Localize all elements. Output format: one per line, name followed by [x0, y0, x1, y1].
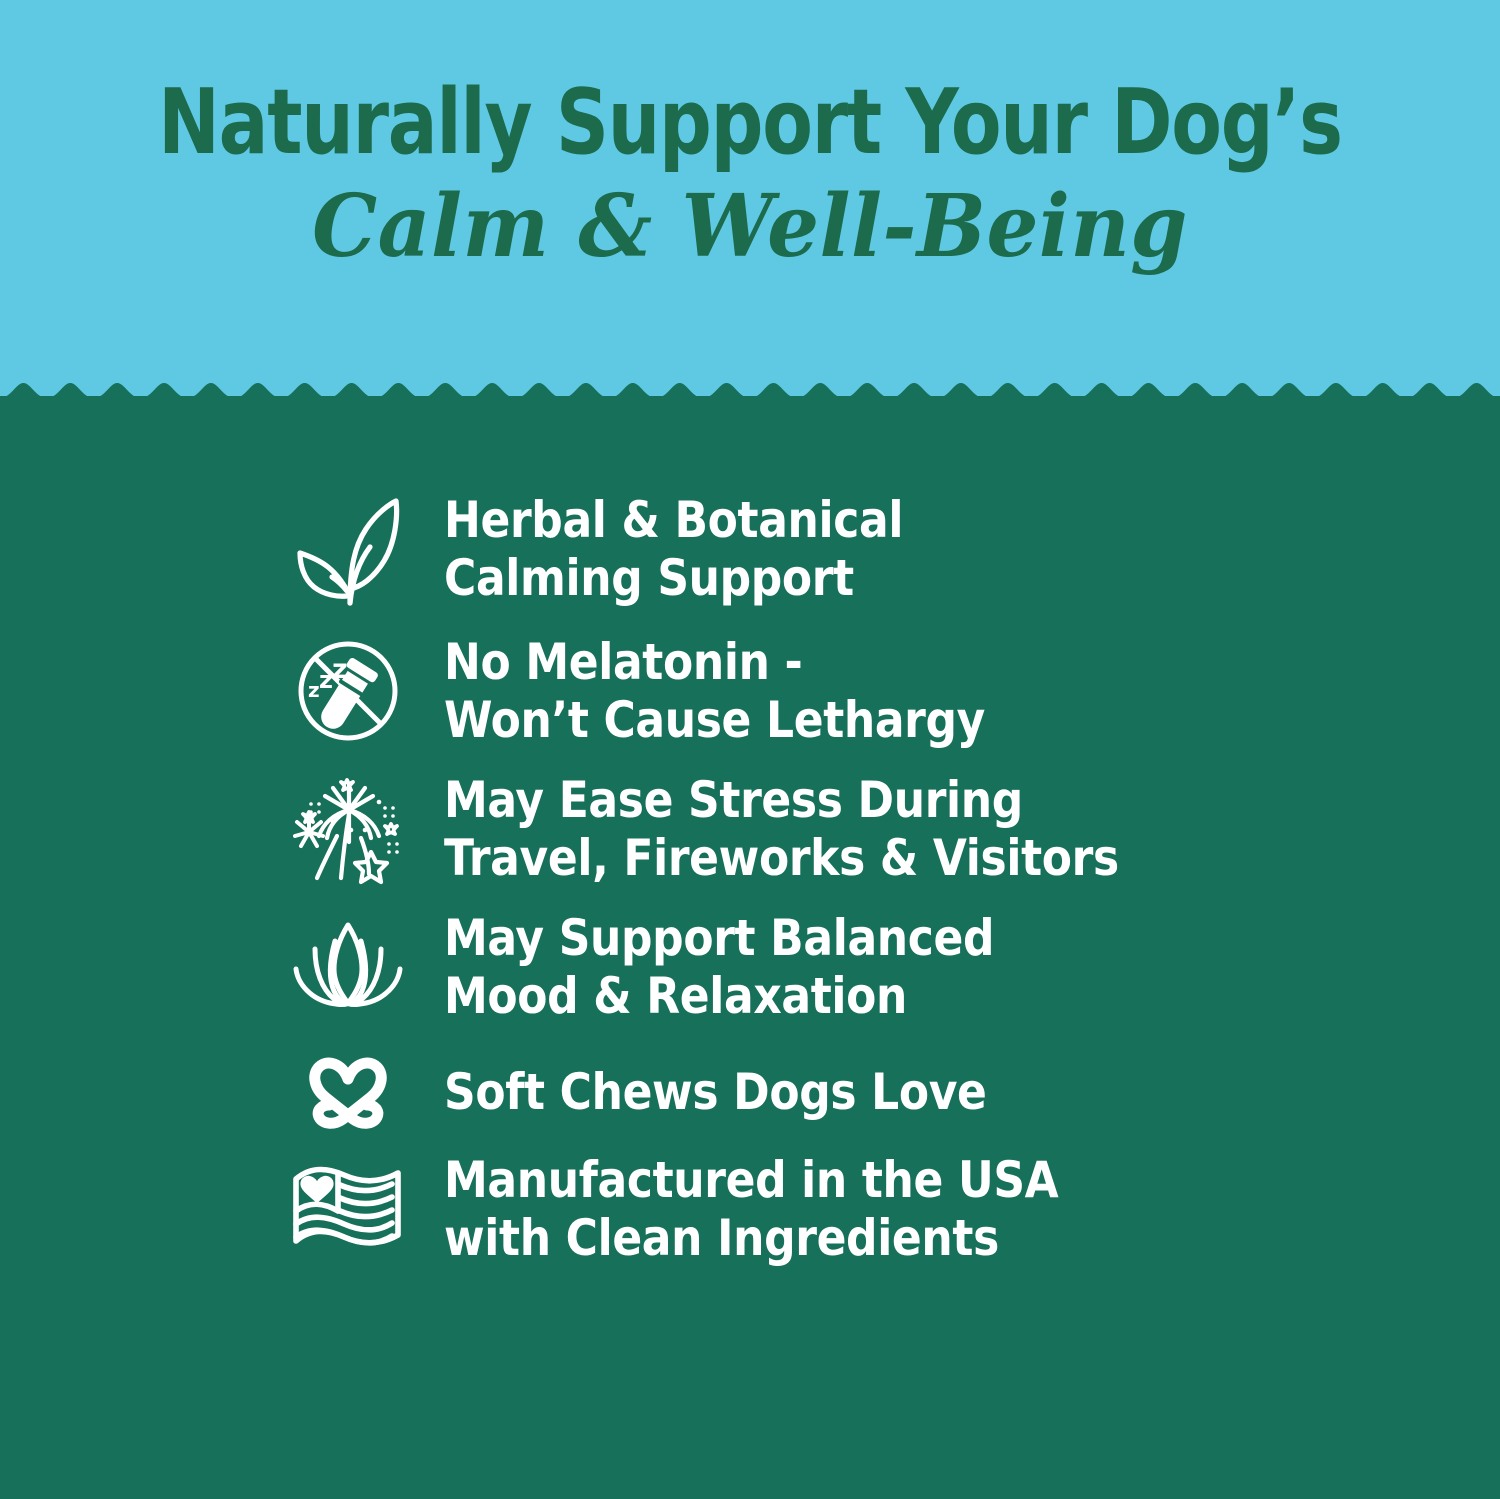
feature-label: Manufactured in the USA with Clean Ingre…	[444, 1151, 1373, 1268]
feature-list: Herbal & Botanical Calming Support	[0, 418, 1500, 1499]
feature-item: Herbal & Botanical Calming Support	[282, 488, 1500, 610]
svg-text:z: z	[319, 666, 333, 694]
feature-label: Soft Chews Dogs Love	[444, 1063, 1373, 1122]
no-melatonin-vial-icon: z z z	[282, 630, 414, 752]
feature-item: Soft Chews Dogs Love	[282, 1044, 1500, 1140]
feature-label: May Ease Stress During Travel, Fireworks…	[444, 771, 1373, 888]
fireworks-icon	[282, 768, 414, 890]
feature-item: z z z No Melatonin - Won’t Cause Letharg…	[282, 630, 1500, 752]
leaves-icon	[282, 488, 414, 610]
usa-flag-heart-icon	[282, 1148, 414, 1270]
headline-line-2: Calm & Well-Being	[38, 182, 1463, 272]
feature-label: Herbal & Botanical Calming Support	[444, 491, 1373, 608]
feature-item: May Ease Stress During Travel, Fireworks…	[282, 768, 1500, 890]
svg-text:z: z	[332, 654, 348, 685]
feature-label: May Support Balanced Mood & Relaxation	[444, 909, 1373, 1026]
feature-label: No Melatonin - Won’t Cause Lethargy	[444, 633, 1373, 750]
feature-item: Manufactured in the USA with Clean Ingre…	[282, 1148, 1500, 1270]
page-title: Naturally Support Your Dog’s Calm & Well…	[0, 0, 1500, 272]
lotus-flower-icon	[282, 906, 414, 1028]
headline-line-1: Naturally Support Your Dog’s	[135, 78, 1365, 168]
feature-item: May Support Balanced Mood & Relaxation	[282, 906, 1500, 1028]
heart-chew-icon	[282, 1044, 414, 1140]
svg-text:z: z	[308, 678, 320, 702]
wavy-divider	[0, 372, 1500, 418]
infographic-page: Naturally Support Your Dog’s Calm & Well…	[0, 0, 1500, 1499]
